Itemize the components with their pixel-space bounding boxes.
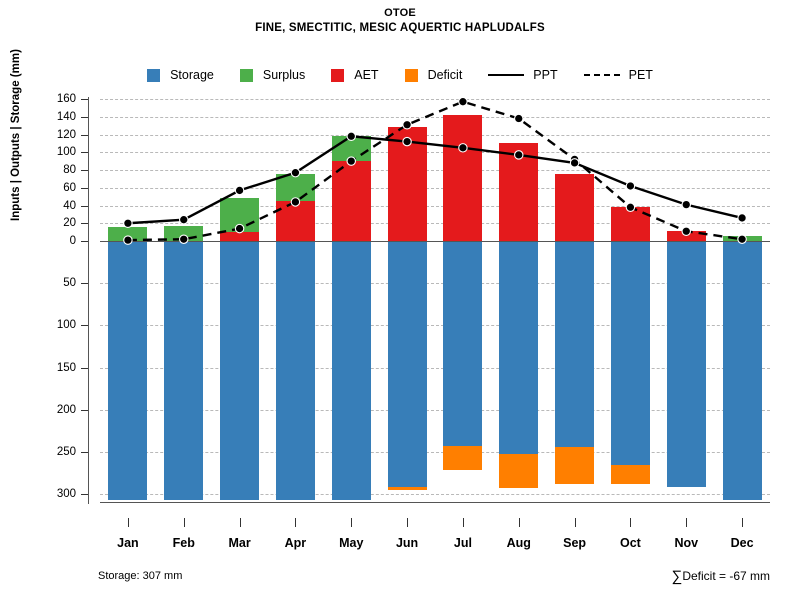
y-tick-mark [81,99,88,100]
x-tick-mark [351,518,352,527]
chart-legend: StorageSurplusAETDeficitPPTPET [0,68,800,82]
x-tick-mark [575,518,576,527]
y-tick-label: 60 [14,182,76,194]
y-tick-mark [81,452,88,453]
sigma-icon: ∑ [672,568,683,585]
x-tick-mark [630,518,631,527]
y-tick-mark [81,368,88,369]
legend-swatch-icon [405,69,418,82]
legend-label: PPT [533,68,557,82]
y-tick-mark [81,170,88,171]
series-lines [100,99,770,504]
plot-area [100,99,770,504]
x-tick-mark [519,518,520,527]
pet-point[interactable] [347,157,355,165]
legend-item-pet[interactable]: PET [584,68,653,82]
page-title: OTOE [0,6,800,21]
legend-item-deficit[interactable]: Deficit [405,68,463,82]
ppt-point[interactable] [515,151,523,159]
dashed-line-icon [584,74,620,76]
x-tick-mark [463,518,464,527]
y-tick-label: 80 [14,164,76,176]
x-axis-label-apr: Apr [285,536,307,550]
x-tick-mark [240,518,241,527]
ppt-point[interactable] [682,200,690,208]
chart-subtitle: FINE, SMECTITIC, MESIC AQUERTIC HAPLUDAL… [0,21,800,36]
y-tick-label: 160 [14,93,76,105]
y-tick-label: 100 [14,146,76,158]
y-tick-label: 150 [14,362,76,374]
storage-note: Storage: 307 mm [98,570,182,582]
x-axis-label-dec: Dec [731,536,754,550]
x-tick-mark [128,518,129,527]
x-tick-mark [742,518,743,527]
legend-label: Storage [170,68,214,82]
x-axis-label-oct: Oct [620,536,641,550]
x-tick-mark [686,518,687,527]
ppt-point[interactable] [347,132,355,140]
legend-swatch-icon [331,69,344,82]
chart-title-block: OTOE FINE, SMECTITIC, MESIC AQUERTIC HAP… [0,6,800,36]
pet-line [128,102,742,240]
ppt-point[interactable] [570,159,578,167]
pet-point[interactable] [459,97,467,105]
y-tick-label: 20 [14,217,76,229]
x-tick-mark [407,518,408,527]
y-tick-mark [81,223,88,224]
y-tick-label: 100 [14,319,76,331]
x-axis-label-feb: Feb [173,536,195,550]
y-tick-mark [81,410,88,411]
y-tick-mark [81,188,88,189]
pet-point[interactable] [682,227,690,235]
legend-item-surplus[interactable]: Surplus [240,68,305,82]
ppt-point[interactable] [124,219,132,227]
x-axis-label-jan: Jan [117,536,139,550]
y-tick-mark [81,206,88,207]
legend-swatch-icon [147,69,160,82]
pet-point[interactable] [403,121,411,129]
pet-point[interactable] [124,236,132,244]
legend-label: AET [354,68,378,82]
ppt-point[interactable] [235,186,243,194]
y-tick-mark [81,325,88,326]
x-axis-label-jul: Jul [454,536,472,550]
legend-item-ppt[interactable]: PPT [488,68,557,82]
deficit-note: ∑Deficit = -67 mm [672,568,770,585]
pet-point[interactable] [738,235,746,243]
legend-label: PET [629,68,653,82]
deficit-note-text: Deficit = -67 mm [682,569,770,583]
legend-item-aet[interactable]: AET [331,68,378,82]
pet-point[interactable] [515,114,523,122]
legend-swatch-icon [240,69,253,82]
pet-point[interactable] [235,224,243,232]
ppt-line [128,136,742,223]
x-axis-label-jun: Jun [396,536,418,550]
y-tick-label: 300 [14,488,76,500]
x-axis-label-nov: Nov [674,536,698,550]
water-balance-chart: OTOE FINE, SMECTITIC, MESIC AQUERTIC HAP… [0,0,800,600]
ppt-point[interactable] [738,214,746,222]
solid-line-icon [488,74,524,76]
ppt-point[interactable] [403,137,411,145]
y-tick-label: 0 [14,235,76,247]
y-tick-label: 120 [14,129,76,141]
legend-label: Deficit [428,68,463,82]
x-tick-mark [295,518,296,527]
y-tick-label: 40 [14,200,76,212]
y-tick-label: 250 [14,446,76,458]
y-tick-mark [81,494,88,495]
y-tick-mark [81,135,88,136]
pet-point[interactable] [291,198,299,206]
pet-point[interactable] [626,203,634,211]
y-tick-mark [81,152,88,153]
y-tick-mark [81,241,88,242]
x-axis-label-mar: Mar [228,536,250,550]
y-tick-mark [81,283,88,284]
y-tick-label: 200 [14,404,76,416]
y-tick-label: 50 [14,277,76,289]
y-axis-line [88,97,89,504]
x-tick-mark [184,518,185,527]
x-axis-label-aug: Aug [507,536,531,550]
pet-point[interactable] [180,235,188,243]
ppt-point[interactable] [180,216,188,224]
legend-label: Surplus [263,68,305,82]
ppt-point[interactable] [291,168,299,176]
legend-item-storage[interactable]: Storage [147,68,214,82]
y-tick-mark [81,117,88,118]
x-axis-label-may: May [339,536,363,550]
ppt-point[interactable] [626,182,634,190]
x-axis-label-sep: Sep [563,536,586,550]
y-tick-label: 140 [14,111,76,123]
ppt-point[interactable] [459,144,467,152]
